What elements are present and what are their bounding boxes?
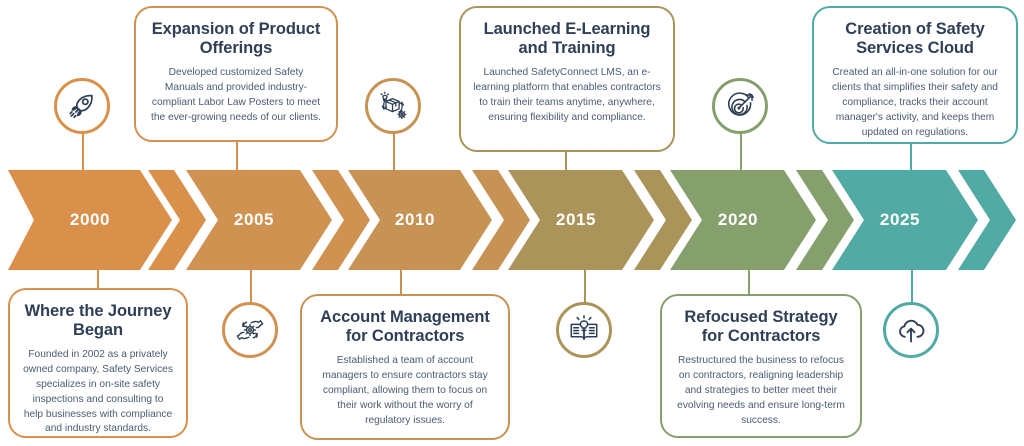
timeline-infographic: 2000 2005 2010 2015 2020 2025 Expansion … [0, 0, 1024, 446]
icon-badge-book-lightbulb[interactable] [556, 302, 612, 358]
segment-2010-group [348, 170, 530, 270]
segment-2005-group [186, 170, 370, 270]
milestone-body: Founded in 2002 as a privately owned com… [22, 348, 174, 437]
segment-2000-block [8, 170, 172, 270]
segment-2015-group [508, 170, 692, 270]
icon-badge-target-arrow[interactable] [712, 78, 768, 134]
milestone-card-2000[interactable]: Where the Journey Began Founded in 2002 … [8, 288, 188, 438]
milestone-body: Restructured the business to refocus on … [674, 354, 848, 428]
milestone-body: Launched SafetyConnect LMS, an e-learnin… [473, 66, 661, 126]
icon-badge-hands-gear[interactable] [222, 302, 278, 358]
target-arrow-icon [724, 90, 756, 122]
icon-badge-package-process[interactable] [365, 78, 421, 134]
icon-badge-rocket[interactable] [54, 78, 110, 134]
stem-2010-icon [393, 128, 395, 176]
milestone-title: Where the Journey Began [22, 302, 174, 341]
book-lightbulb-icon [568, 314, 600, 346]
milestone-card-2020[interactable]: Refocused Strategy for Contractors Restr… [660, 294, 862, 438]
package-process-icon [377, 90, 409, 122]
hands-gear-icon [234, 314, 266, 346]
milestone-card-2015[interactable]: Launched E-Learning and Training Launche… [459, 6, 675, 152]
stem-2000-icon [82, 128, 84, 176]
milestone-body: Created an all-in-one solution for our c… [826, 66, 1004, 140]
milestone-title: Expansion of Product Offerings [148, 20, 324, 59]
milestone-body: Developed customized Safety Manuals and … [148, 66, 324, 126]
segment-2020-group [670, 170, 854, 270]
rocket-icon [67, 91, 97, 121]
timeline-chevron-band [0, 170, 1024, 270]
milestone-title: Refocused Strategy for Contractors [674, 308, 848, 347]
cloud-upload-icon [895, 314, 927, 346]
milestone-card-2005[interactable]: Expansion of Product Offerings Developed… [134, 6, 338, 142]
milestone-body: Established a team of account managers t… [314, 354, 496, 428]
icon-badge-cloud-upload[interactable] [883, 302, 939, 358]
stem-2020-icon [740, 128, 742, 176]
milestone-title: Creation of Safety Services Cloud [826, 20, 1004, 59]
milestone-card-2025[interactable]: Creation of Safety Services Cloud Create… [812, 6, 1018, 144]
segment-2000-group [8, 170, 206, 270]
milestone-title: Launched E-Learning and Training [473, 20, 661, 59]
milestone-title: Account Management for Contractors [314, 308, 496, 347]
milestone-card-2010[interactable]: Account Management for Contractors Estab… [300, 294, 510, 440]
segment-2025-group [832, 170, 1016, 270]
segment-2005-block [186, 170, 332, 270]
